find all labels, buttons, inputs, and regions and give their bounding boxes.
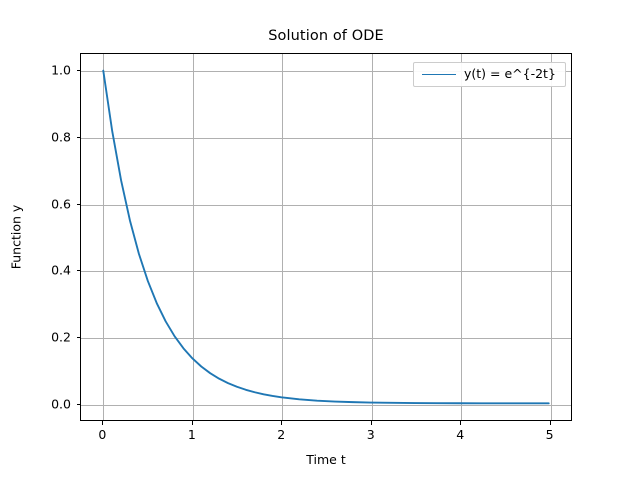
x-tick-mark bbox=[102, 421, 103, 425]
x-tick-label: 4 bbox=[456, 427, 464, 442]
x-tick-mark bbox=[281, 421, 282, 425]
chart-title: Solution of ODE bbox=[80, 28, 572, 44]
plot-axes bbox=[80, 53, 572, 421]
y-tick-label: 1.0 bbox=[51, 62, 71, 77]
x-axis-label: Time t bbox=[80, 452, 572, 467]
x-tick-mark bbox=[192, 421, 193, 425]
y-tick-mark bbox=[77, 70, 81, 71]
y-tick-label: 0.4 bbox=[51, 263, 71, 278]
x-tick-label: 5 bbox=[546, 427, 554, 442]
y-tick-mark bbox=[77, 337, 81, 338]
x-tick-label: 2 bbox=[277, 427, 285, 442]
y-tick-mark bbox=[77, 204, 81, 205]
y-tick-label: 0.6 bbox=[51, 196, 71, 211]
plot-area bbox=[81, 54, 571, 420]
legend-line-sample-icon bbox=[422, 74, 456, 75]
y-tick-mark bbox=[77, 137, 81, 138]
x-tick-label: 3 bbox=[367, 427, 375, 442]
x-tick-label: 0 bbox=[98, 427, 106, 442]
y-tick-mark bbox=[77, 404, 81, 405]
series-line-exponential-decay bbox=[103, 71, 548, 404]
y-tick-label: 0.2 bbox=[51, 330, 71, 345]
y-tick-label: 0.8 bbox=[51, 129, 71, 144]
matplotlib-figure: Solution of ODE 012345 0.00.20.40.60.81.… bbox=[0, 0, 640, 480]
data-curve-svg bbox=[81, 54, 571, 420]
legend-entry-label: y(t) = e^{-2t} bbox=[464, 68, 556, 81]
x-tick-mark bbox=[371, 421, 372, 425]
x-tick-label: 1 bbox=[188, 427, 196, 442]
legend: y(t) = e^{-2t} bbox=[413, 62, 566, 87]
x-tick-mark bbox=[550, 421, 551, 425]
y-tick-label: 0.0 bbox=[51, 397, 71, 412]
y-tick-mark bbox=[77, 270, 81, 271]
x-tick-mark bbox=[460, 421, 461, 425]
y-axis-label: Function y bbox=[9, 205, 24, 270]
